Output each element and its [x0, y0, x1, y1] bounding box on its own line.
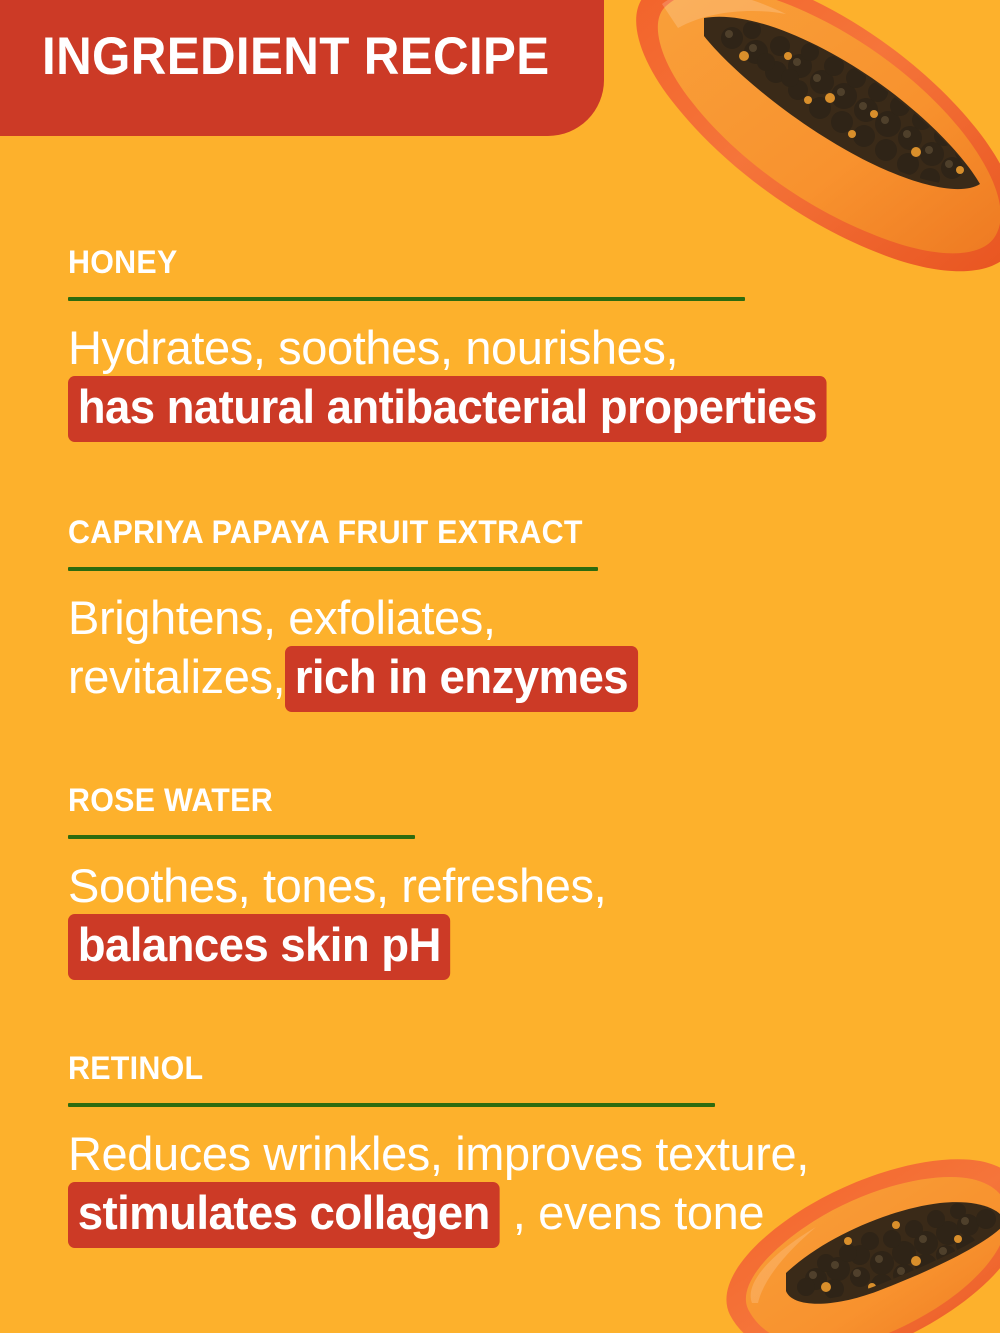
benefit-text-line: revitalizes, — [68, 650, 285, 703]
ingredient-title-rose-water: ROSE WATER — [68, 784, 952, 816]
benefit-highlight: has natural antibacterial properties — [68, 376, 827, 441]
benefit-highlight: rich in enzymes — [285, 646, 638, 711]
ingredient-section-rose-water: ROSE WATER Soothes, tones, refreshes, ba… — [68, 784, 998, 980]
ingredient-benefits-papaya: Brightens, exfoliates, revitalizes,rich … — [68, 589, 998, 712]
ingredient-list: HONEY Hydrates, soothes, nourishes, has … — [0, 0, 1000, 1333]
header-banner: INGREDIENT RECIPE — [0, 0, 604, 136]
section-divider-papaya — [68, 567, 598, 571]
section-divider-retinol — [68, 1103, 715, 1107]
benefit-text-line: Soothes, tones, refreshes, — [68, 859, 606, 912]
ingredient-benefits-honey: Hydrates, soothes, nourishes, has natura… — [68, 319, 998, 442]
section-divider-rose-water — [68, 835, 415, 839]
benefit-text-line: Hydrates, soothes, nourishes, — [68, 321, 678, 374]
section-divider-honey — [68, 297, 745, 301]
ingredient-benefits-rose-water: Soothes, tones, refreshes, balances skin… — [68, 857, 998, 980]
benefit-text-line: Reduces wrinkles, improves texture, — [68, 1127, 809, 1180]
ingredient-title-papaya: CAPRIYA PAPAYA FRUIT EXTRACT — [68, 516, 952, 548]
ingredient-benefits-retinol: Reduces wrinkles, improves texture, stim… — [68, 1125, 998, 1248]
benefit-text-line: Brightens, exfoliates, — [68, 591, 496, 644]
benefit-highlight: stimulates collagen — [68, 1182, 499, 1247]
ingredient-title-retinol: RETINOL — [68, 1052, 952, 1084]
ingredient-section-retinol: RETINOL Reduces wrinkles, improves textu… — [68, 1052, 998, 1248]
benefit-text-tail: , evens tone — [513, 1186, 764, 1239]
ingredient-section-honey: HONEY Hydrates, soothes, nourishes, has … — [68, 246, 998, 442]
page-title: INGREDIENT RECIPE — [42, 30, 550, 83]
ingredient-title-honey: HONEY — [68, 246, 952, 278]
ingredient-section-papaya: CAPRIYA PAPAYA FRUIT EXTRACT Brightens, … — [68, 516, 998, 712]
benefit-highlight: balances skin pH — [68, 914, 451, 979]
